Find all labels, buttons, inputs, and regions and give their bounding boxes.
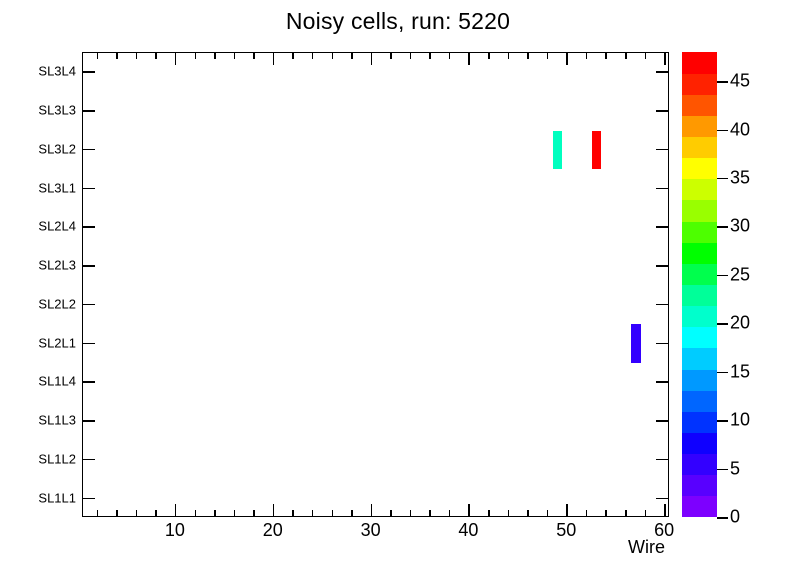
x-minor-tick-top (97, 52, 99, 59)
y-major-tick (82, 188, 95, 190)
colorbar-tick-label: 45 (730, 71, 750, 92)
colorbar-tick (717, 226, 728, 228)
y-major-tick (82, 149, 95, 151)
x-minor-tick-top (312, 52, 314, 59)
x-axis-labels: 102030405060 (0, 520, 796, 546)
colorbar-tick (717, 420, 728, 422)
x-minor-tick (234, 510, 236, 517)
y-axis-tick-label: SL1L4 (38, 374, 76, 389)
y-axis-tick-label: SL2L4 (38, 219, 76, 234)
x-minor-tick (449, 510, 451, 517)
y-major-tick (82, 71, 95, 73)
x-minor-tick-top (292, 52, 294, 59)
y-major-tick (82, 498, 95, 500)
x-minor-tick-top (195, 52, 197, 59)
x-major-tick-top (175, 52, 177, 65)
colorbar-tick-label: 35 (730, 167, 750, 188)
y-major-tick (82, 110, 95, 112)
x-minor-tick-top (214, 52, 216, 59)
x-minor-tick-top (136, 52, 138, 59)
x-minor-tick-top (605, 52, 607, 59)
x-minor-tick (97, 510, 99, 517)
colorbar-tick (717, 323, 728, 325)
y-axis-tick-label: SL1L1 (38, 490, 76, 505)
colorbar-tick-label: 5 (730, 458, 740, 479)
x-minor-tick (429, 510, 431, 517)
y-major-tick-right (656, 71, 669, 73)
colorbar-tick (717, 372, 728, 374)
x-minor-tick (214, 510, 216, 517)
colorbar-tick (717, 469, 728, 471)
x-minor-tick (136, 510, 138, 517)
x-minor-tick (605, 510, 607, 517)
plot-frame (82, 52, 669, 517)
x-minor-tick (410, 510, 412, 517)
x-major-tick-top (664, 52, 666, 65)
colorbar-tick (717, 81, 728, 83)
x-minor-tick (527, 510, 529, 517)
x-minor-tick (645, 510, 647, 517)
y-major-tick-right (656, 265, 669, 267)
y-axis-tick-label: SL3L1 (38, 180, 76, 195)
y-major-tick-right (656, 459, 669, 461)
x-minor-tick-top (253, 52, 255, 59)
x-axis-tick-label: 40 (458, 520, 478, 541)
x-minor-tick (253, 510, 255, 517)
x-minor-tick-top (586, 52, 588, 59)
x-minor-tick (547, 510, 549, 517)
x-minor-tick-top (351, 52, 353, 59)
x-minor-tick-top (429, 52, 431, 59)
y-major-tick-right (656, 498, 669, 500)
page-title: Noisy cells, run: 5220 (0, 8, 796, 35)
x-axis-title: Wire (628, 537, 665, 558)
x-axis-tick-label: 20 (263, 520, 283, 541)
y-major-tick (82, 343, 95, 345)
x-minor-tick (351, 510, 353, 517)
x-major-tick-top (566, 52, 568, 65)
colorbar-tick-label: 10 (730, 410, 750, 431)
heatmap-cell (592, 131, 602, 170)
x-minor-tick-top (508, 52, 510, 59)
x-minor-tick (312, 510, 314, 517)
x-major-tick (273, 504, 275, 517)
y-major-tick-right (656, 343, 669, 345)
x-minor-tick (625, 510, 627, 517)
x-minor-tick (195, 510, 197, 517)
y-major-tick-right (656, 226, 669, 228)
x-minor-tick-top (547, 52, 549, 59)
x-minor-tick (390, 510, 392, 517)
y-major-tick (82, 420, 95, 422)
x-minor-tick (116, 510, 118, 517)
root-canvas: Noisy cells, run: 5220 SL1L1SL1L2SL1L3SL… (0, 0, 796, 572)
x-minor-tick-top (449, 52, 451, 59)
y-axis-tick-label: SL1L3 (38, 413, 76, 428)
x-major-tick-top (468, 52, 470, 65)
y-major-tick-right (656, 188, 669, 190)
colorbar-tick-label: 0 (730, 507, 740, 528)
x-major-tick (468, 504, 470, 517)
y-major-tick-right (656, 304, 669, 306)
x-major-tick-top (371, 52, 373, 65)
y-axis-tick-label: SL2L3 (38, 258, 76, 273)
y-axis-tick-label: SL3L3 (38, 103, 76, 118)
y-major-tick-right (656, 381, 669, 383)
y-major-tick (82, 381, 95, 383)
heatmap-cell (553, 131, 563, 170)
y-major-tick-right (656, 420, 669, 422)
y-axis-tick-label: SL2L1 (38, 335, 76, 350)
x-minor-tick-top (234, 52, 236, 59)
y-axis-tick-label: SL3L2 (38, 141, 76, 156)
y-major-tick (82, 226, 95, 228)
y-major-tick-right (656, 110, 669, 112)
y-axis-tick-label: SL2L2 (38, 296, 76, 311)
y-major-tick-right (656, 149, 669, 151)
colorbar-tick (717, 178, 728, 180)
x-minor-tick-top (645, 52, 647, 59)
colorbar-tick-label: 25 (730, 264, 750, 285)
x-minor-tick (508, 510, 510, 517)
y-major-tick (82, 304, 95, 306)
x-minor-tick-top (390, 52, 392, 59)
y-axis-tick-label: SL3L4 (38, 64, 76, 79)
x-minor-tick (488, 510, 490, 517)
x-major-tick (566, 504, 568, 517)
x-minor-tick-top (332, 52, 334, 59)
x-minor-tick-top (488, 52, 490, 59)
x-minor-tick-top (410, 52, 412, 59)
x-minor-tick (292, 510, 294, 517)
x-minor-tick-top (527, 52, 529, 59)
colorbar-tick (717, 517, 728, 519)
x-minor-tick (155, 510, 157, 517)
colorbar-tick (717, 275, 728, 277)
y-major-tick (82, 459, 95, 461)
x-minor-tick-top (116, 52, 118, 59)
x-minor-tick (332, 510, 334, 517)
x-axis-tick-label: 50 (556, 520, 576, 541)
x-minor-tick-top (625, 52, 627, 59)
colorbar-tick-label: 15 (730, 361, 750, 382)
x-major-tick (664, 504, 666, 517)
colorbar-tick-label: 20 (730, 313, 750, 334)
heatmap-cell (631, 324, 641, 363)
x-major-tick (371, 504, 373, 517)
x-major-tick (175, 504, 177, 517)
x-major-tick-top (273, 52, 275, 65)
y-axis-tick-label: SL1L2 (38, 451, 76, 466)
y-major-tick (82, 265, 95, 267)
x-axis-tick-label: 10 (165, 520, 185, 541)
y-axis-labels: SL1L1SL1L2SL1L3SL1L4SL2L1SL2L2SL2L3SL2L4… (0, 0, 76, 572)
colorbar-tick (717, 130, 728, 132)
colorbar-tick-label: 40 (730, 119, 750, 140)
colorbar-tick-label: 30 (730, 216, 750, 237)
x-minor-tick (586, 510, 588, 517)
colorbar-axis: 051015202530354045 (682, 52, 792, 517)
x-axis-tick-label: 30 (361, 520, 381, 541)
x-minor-tick-top (155, 52, 157, 59)
